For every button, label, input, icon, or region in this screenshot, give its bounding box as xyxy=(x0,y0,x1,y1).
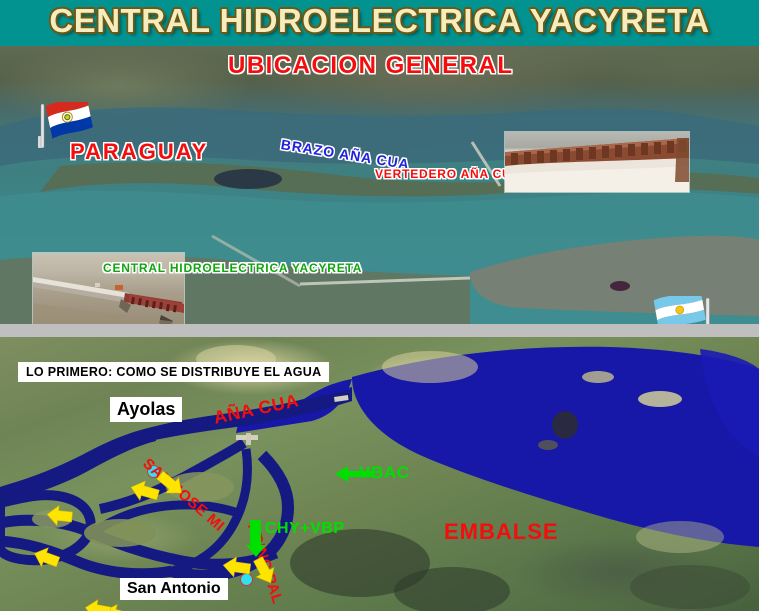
flow-arrow xyxy=(154,467,188,500)
panel-distribucion-agua: LO PRIMERO: COMO SE DISTRIBUYE EL AGUA A… xyxy=(0,337,759,611)
panel-ubicacion-general: UBICACION GENERAL PARAGUAY BRAZO AÑA CUA… xyxy=(0,46,759,324)
flow-arrow xyxy=(84,598,112,611)
slide-root: CENTRAL HIDROELECTRICA YACYRETA xyxy=(0,0,759,611)
flow-arrows-group xyxy=(0,337,759,611)
label-vertedero-ana-cua: VERTEDERO AÑA CUA xyxy=(375,167,521,181)
label-paraguay: PARAGUAY xyxy=(70,139,208,165)
flow-arrow xyxy=(222,555,252,579)
label-central-hidroelectrica: CENTRAL HIDROELECTRICA YACYRETA xyxy=(103,261,362,275)
page-title: CENTRAL HIDROELECTRICA YACYRETA xyxy=(0,2,759,40)
overview-heading: UBICACION GENERAL xyxy=(228,52,514,80)
flow-arrow xyxy=(249,554,279,587)
panel-divider xyxy=(0,324,759,337)
inset-photo-spillway xyxy=(504,131,690,193)
argentina-flag xyxy=(648,296,714,324)
flow-arrow xyxy=(128,478,160,505)
title-banner: CENTRAL HIDROELECTRICA YACYRETA xyxy=(0,0,759,46)
flow-arrow xyxy=(46,504,73,527)
flow-arrow xyxy=(31,544,61,571)
